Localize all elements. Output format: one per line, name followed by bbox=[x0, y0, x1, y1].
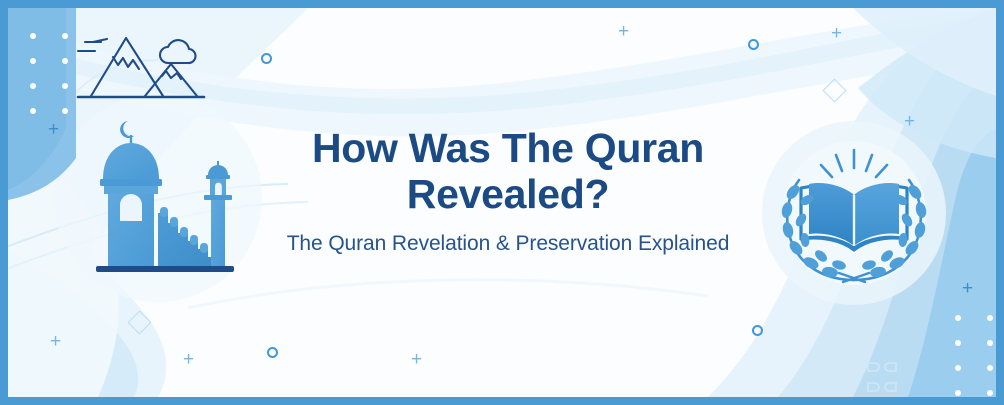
base-line bbox=[96, 266, 234, 272]
banner-text-block: How Was The Quran Revealed? The Quran Re… bbox=[253, 126, 763, 257]
grid-dot bbox=[955, 315, 961, 321]
quran-article-banner: + + + + + + + + bbox=[0, 0, 1004, 405]
page-subtitle: The Quran Revelation & Preservation Expl… bbox=[253, 231, 763, 257]
plus-decoration: + bbox=[962, 279, 973, 298]
plus-decoration: + bbox=[50, 332, 61, 351]
circle-decoration bbox=[261, 53, 272, 64]
grid-dot bbox=[955, 340, 961, 346]
page-title: How Was The Quran Revealed? bbox=[253, 126, 763, 218]
grid-dot bbox=[62, 33, 68, 39]
dome bbox=[103, 143, 159, 179]
grid-dot bbox=[62, 83, 68, 89]
light-rays bbox=[821, 150, 887, 177]
plus-decoration: + bbox=[831, 24, 842, 43]
banner-inner-frame: + + + + + + + + bbox=[8, 8, 996, 397]
open-book bbox=[801, 183, 907, 250]
grid-dot bbox=[30, 108, 36, 114]
quatrefoil-ornament bbox=[864, 360, 900, 394]
arch-window bbox=[120, 194, 142, 221]
diamond-decoration bbox=[127, 310, 151, 334]
dot-grid-topleft bbox=[30, 33, 68, 114]
grid-dot bbox=[955, 390, 961, 396]
dot-grid-bottomright bbox=[955, 315, 993, 396]
plus-decoration: + bbox=[904, 112, 915, 131]
grid-dot bbox=[987, 340, 993, 346]
grid-dot bbox=[30, 58, 36, 64]
crescent-finial bbox=[120, 121, 134, 138]
minaret-shaft bbox=[211, 200, 225, 266]
snow-cap bbox=[113, 57, 139, 69]
grid-dot bbox=[62, 108, 68, 114]
circle-decoration bbox=[752, 325, 763, 336]
plus-decoration: + bbox=[48, 120, 59, 139]
dome-band bbox=[100, 179, 162, 186]
grid-dot bbox=[987, 390, 993, 396]
grid-dot bbox=[955, 365, 961, 371]
mountain-illustration bbox=[73, 26, 208, 104]
plus-decoration: + bbox=[411, 350, 422, 369]
circle-decoration bbox=[267, 347, 278, 358]
grid-dot bbox=[987, 315, 993, 321]
stepped-wall bbox=[158, 213, 218, 266]
grid-dot bbox=[30, 83, 36, 89]
plus-decoration: + bbox=[618, 22, 629, 41]
plus-decoration: + bbox=[183, 350, 194, 369]
wind-line bbox=[93, 39, 107, 42]
grid-dot bbox=[30, 33, 36, 39]
grid-dot bbox=[987, 365, 993, 371]
diamond-decoration bbox=[822, 78, 846, 102]
cloud-icon bbox=[160, 40, 196, 63]
grid-dot bbox=[62, 58, 68, 64]
mosque-illustration bbox=[90, 113, 240, 278]
circle-decoration bbox=[748, 39, 759, 50]
book-wreath-illustration bbox=[779, 140, 929, 285]
